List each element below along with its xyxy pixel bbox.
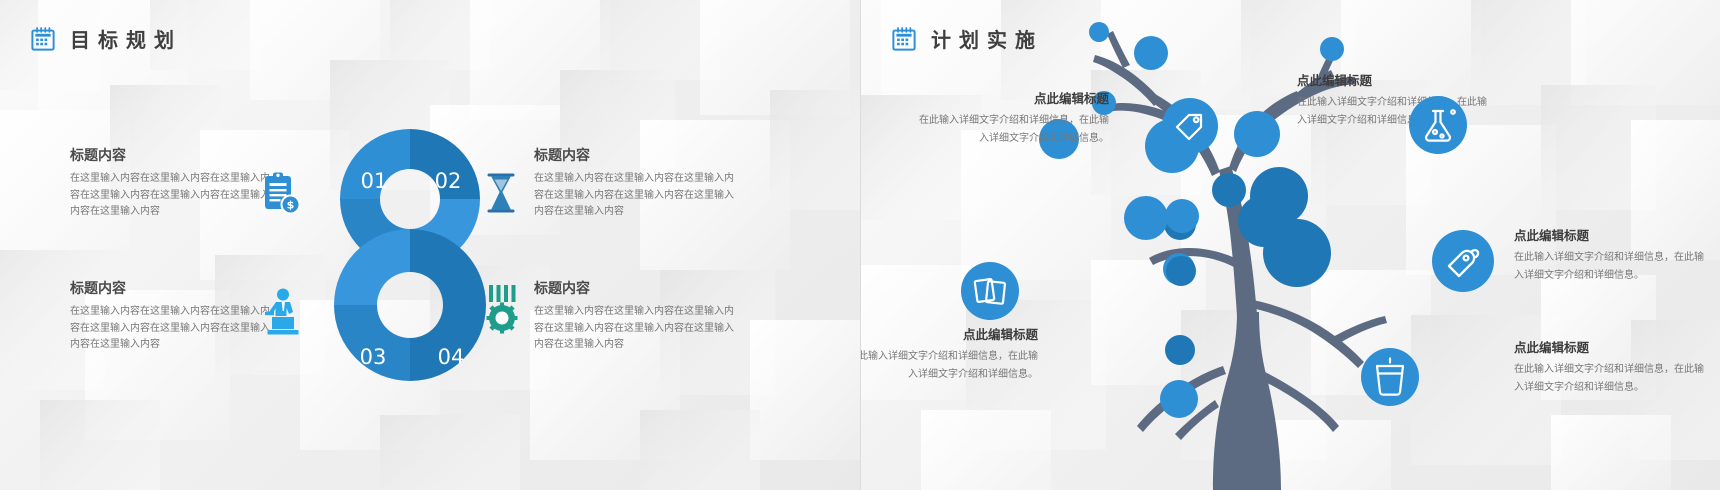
text-block-title: 点此编辑标题 (860, 324, 1038, 343)
tree-node-mouse[interactable] (1432, 230, 1494, 297)
text-block-title: 点此编辑标题 (1297, 70, 1489, 89)
text-block-title: 点此编辑标题 (1514, 337, 1706, 356)
calendar-icon (891, 26, 917, 52)
text-block-node-cup: 点此编辑标题 在此输入详细文字介绍和详细信息，在此输入详细文字介绍和详细信息。 (1514, 337, 1706, 396)
text-block-body: 在这里输入内容在这里输入内容在这里输入内容在这里输入内容在这里输入内容在这里输入… (534, 304, 734, 354)
leaf-circle (1166, 256, 1196, 286)
text-block-body: 在此输入详细文字介绍和详细信息，在此输入详细文字介绍和详细信息。 (1514, 361, 1706, 396)
text-block-title: 点此编辑标题 (917, 88, 1109, 107)
eight-number-04: 04 (438, 345, 465, 369)
text-block-body: 在此输入详细文字介绍和详细信息，在此输入详细文字介绍和详细信息。 (860, 348, 1038, 383)
text-block-top-left: 标题内容 在这里输入内容在这里输入内容在这里输入内容在这里输入内容在这里输入内容… (70, 145, 270, 221)
text-block-node-tag: 点此编辑标题 在此输入详细文字介绍和详细信息，在此输入详细文字介绍和详细信息。 (917, 88, 1109, 147)
page-title: 计划实施 (931, 24, 1043, 53)
leaf-circle (1165, 335, 1195, 365)
eight-number-01: 01 (361, 169, 388, 193)
tree-node-cup[interactable] (1361, 348, 1419, 411)
leaf-circle (1320, 37, 1344, 61)
tree-node-tag[interactable] (1162, 98, 1218, 159)
leaf-circle (1234, 111, 1280, 157)
eight-bottom-ring (311, 221, 509, 381)
svg-text:$: $ (287, 199, 295, 212)
slide-left-header: 目标规划 (30, 24, 182, 53)
slide-right-header: 计划实施 (891, 24, 1043, 53)
medal-gear-icon (482, 284, 522, 339)
leaf-circle (1124, 196, 1168, 240)
leaf-circle (1089, 22, 1109, 42)
leaf-circle (1212, 173, 1246, 207)
text-block-node-squares: 点此编辑标题 在此输入详细文字介绍和详细信息，在此输入详细文字介绍和详细信息。 (860, 324, 1038, 383)
text-block-title: 标题内容 (70, 278, 270, 298)
slide-right: 计划实施 (860, 0, 1720, 490)
slide-deck: 目标规划 标题内容 在这里输入内容在这里输入内容在这里输入内容在这里输入内容在这… (0, 0, 1720, 490)
eight-number-02: 02 (435, 169, 462, 193)
tree-node-flask[interactable] (1409, 96, 1467, 159)
slide-left: 目标规划 标题内容 在这里输入内容在这里输入内容在这里输入内容在这里输入内容在这… (0, 0, 860, 490)
figure-eight-chart: 01 02 03 04 (311, 126, 509, 381)
tree-node-squares[interactable] (961, 262, 1019, 325)
text-block-body: 在此输入详细文字介绍和详细信息，在此输入详细文字介绍和详细信息。 (1514, 249, 1706, 284)
leaf-circle (1160, 380, 1198, 418)
speaker-podium-icon (263, 288, 305, 341)
leaf-circle (1134, 36, 1168, 70)
eight-number-03: 03 (360, 345, 387, 369)
hourglass-icon (484, 172, 518, 219)
text-block-node-mouse: 点此编辑标题 在此输入详细文字介绍和详细信息，在此输入详细文字介绍和详细信息。 (1514, 225, 1706, 284)
text-block-title: 标题内容 (534, 278, 734, 298)
text-block-title: 点此编辑标题 (1514, 225, 1706, 244)
text-block-bottom-right: 标题内容 在这里输入内容在这里输入内容在这里输入内容在这里输入内容在这里输入内容… (534, 278, 734, 354)
calendar-icon (30, 26, 56, 52)
text-block-body: 在这里输入内容在这里输入内容在这里输入内容在这里输入内容在这里输入内容在这里输入… (534, 171, 734, 221)
page-title: 目标规划 (70, 24, 182, 53)
leaf-circle (1238, 195, 1290, 247)
leaf-circle (1165, 199, 1199, 233)
text-block-bottom-left: 标题内容 在这里输入内容在这里输入内容在这里输入内容在这里输入内容在这里输入内容… (70, 278, 270, 354)
clipboard-dollar-icon: $ (262, 172, 302, 221)
text-block-top-right: 标题内容 在这里输入内容在这里输入内容在这里输入内容在这里输入内容在这里输入内容… (534, 145, 734, 221)
text-block-title: 标题内容 (70, 145, 270, 165)
text-block-body: 在这里输入内容在这里输入内容在这里输入内容在这里输入内容在这里输入内容在这里输入… (70, 304, 270, 354)
text-block-body: 在这里输入内容在这里输入内容在这里输入内容在这里输入内容在这里输入内容在这里输入… (70, 171, 270, 221)
text-block-body: 在此输入详细文字介绍和详细信息，在此输入详细文字介绍和详细信息。 (917, 112, 1109, 147)
text-block-title: 标题内容 (534, 145, 734, 165)
